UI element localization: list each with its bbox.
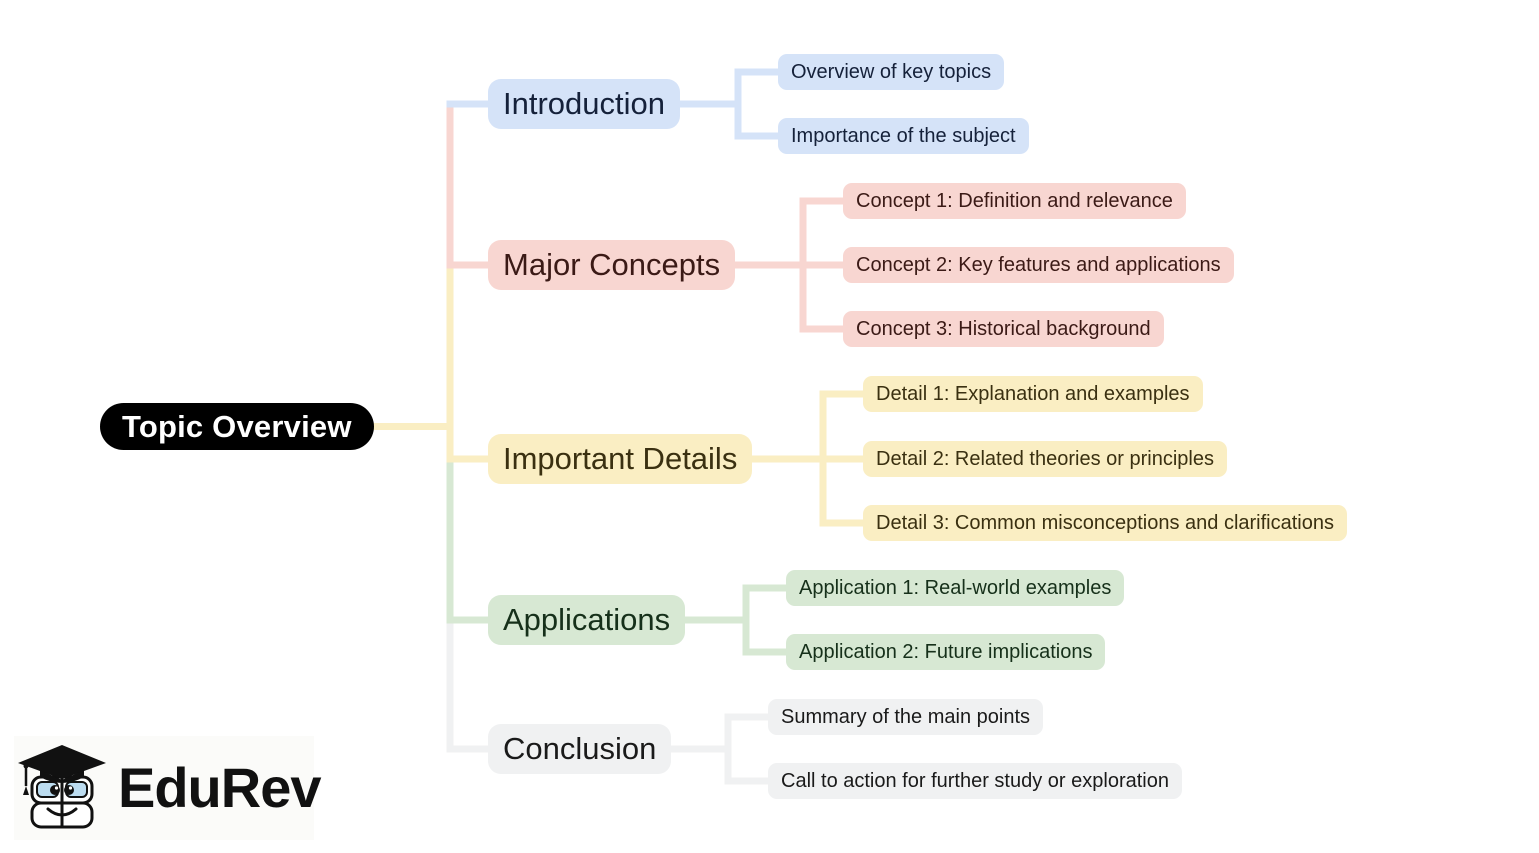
edurev-wordmark: EduRev <box>118 760 321 816</box>
branch-label: Conclusion <box>503 731 656 767</box>
branch-label: Introduction <box>503 86 665 122</box>
leaf-label: Overview of key topics <box>791 61 991 84</box>
branch-label: Major Concepts <box>503 247 720 283</box>
branch-node-important-details[interactable]: Important Details <box>488 434 752 484</box>
leaf-node-call-to-action[interactable]: Call to action for further study or expl… <box>768 763 1182 799</box>
leaf-label: Application 1: Real-world examples <box>799 577 1111 600</box>
leaf-node-detail-2[interactable]: Detail 2: Related theories or principles <box>863 441 1227 477</box>
leaf-label: Detail 1: Explanation and examples <box>876 383 1190 406</box>
graduation-book-mascot-icon <box>14 739 110 837</box>
leaf-label: Concept 3: Historical background <box>856 318 1151 341</box>
branch-node-major-concepts[interactable]: Major Concepts <box>488 240 735 290</box>
leaf-label: Detail 2: Related theories or principles <box>876 448 1214 471</box>
mindmap-canvas: Topic Overview Introduction Overview of … <box>0 0 1539 853</box>
branch-node-conclusion[interactable]: Conclusion <box>488 724 671 774</box>
branch-node-applications[interactable]: Applications <box>488 595 685 645</box>
branch-node-introduction[interactable]: Introduction <box>488 79 680 129</box>
leaf-node-detail-3[interactable]: Detail 3: Common misconceptions and clar… <box>863 505 1347 541</box>
branch-label: Important Details <box>503 441 737 477</box>
leaf-node-concept-2[interactable]: Concept 2: Key features and applications <box>843 247 1234 283</box>
root-node-label: Topic Overview <box>122 409 352 445</box>
leaf-node-concept-1[interactable]: Concept 1: Definition and relevance <box>843 183 1186 219</box>
branch-label: Applications <box>503 602 670 638</box>
leaf-label: Detail 3: Common misconceptions and clar… <box>876 512 1334 535</box>
leaf-node-application-1[interactable]: Application 1: Real-world examples <box>786 570 1124 606</box>
leaf-node-overview-of-key-topics[interactable]: Overview of key topics <box>778 54 1004 90</box>
leaf-label: Importance of the subject <box>791 125 1016 148</box>
leaf-node-detail-1[interactable]: Detail 1: Explanation and examples <box>863 376 1203 412</box>
leaf-node-importance-of-the-subject[interactable]: Importance of the subject <box>778 118 1029 154</box>
leaf-label: Application 2: Future implications <box>799 641 1092 664</box>
edurev-logo: EduRev <box>14 736 314 840</box>
leaf-label: Concept 2: Key features and applications <box>856 254 1221 277</box>
leaf-label: Concept 1: Definition and relevance <box>856 190 1173 213</box>
leaf-label: Call to action for further study or expl… <box>781 770 1169 793</box>
leaf-node-application-2[interactable]: Application 2: Future implications <box>786 634 1105 670</box>
leaf-label: Summary of the main points <box>781 706 1030 729</box>
leaf-node-summary-of-main-points[interactable]: Summary of the main points <box>768 699 1043 735</box>
leaf-node-concept-3[interactable]: Concept 3: Historical background <box>843 311 1164 347</box>
root-node[interactable]: Topic Overview <box>100 403 374 450</box>
